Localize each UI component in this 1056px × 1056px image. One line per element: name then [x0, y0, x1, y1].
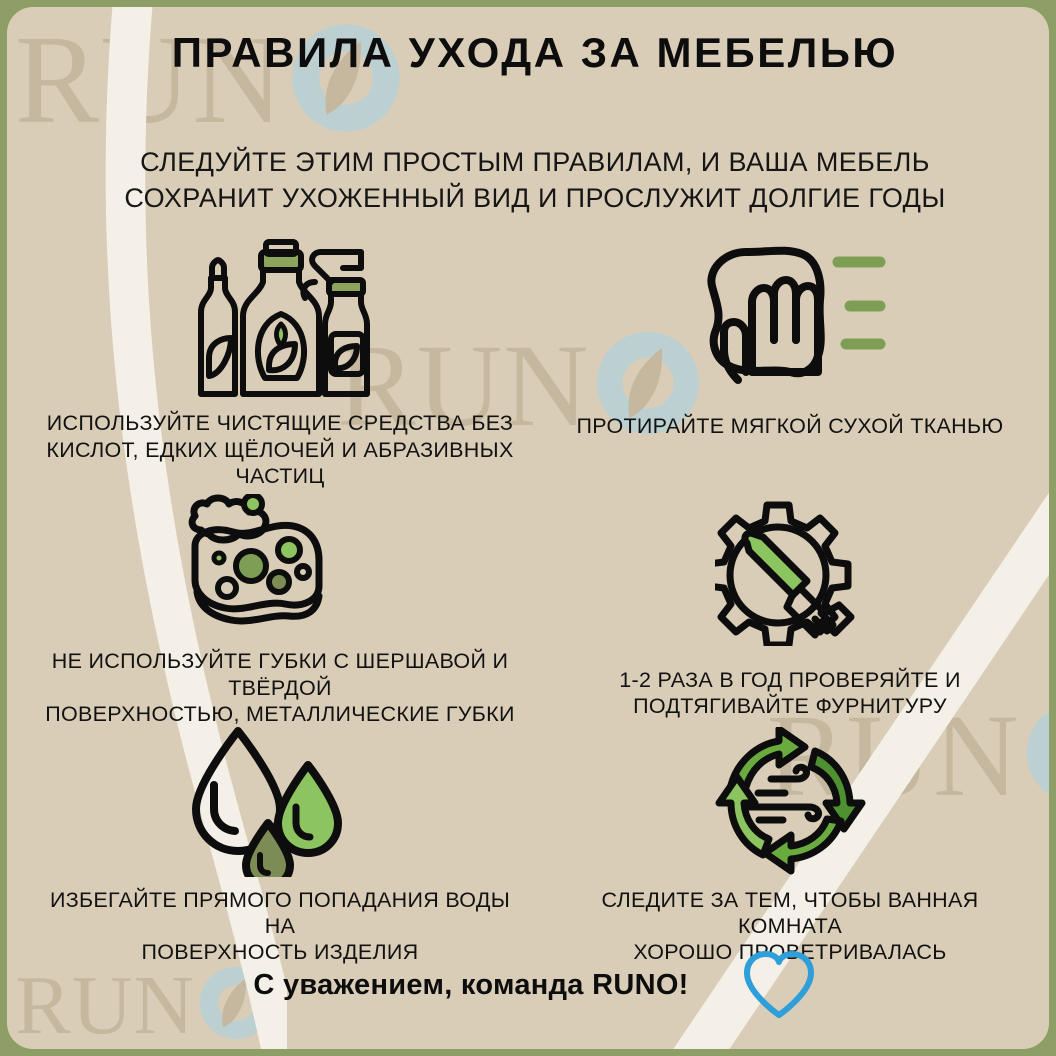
tip-tighten-fittings: 1-2 РАЗА В ГОД ПРОВЕРЯЙТЕ И ПОДТЯГИВАЙТЕ…: [535, 489, 1045, 727]
tip-icon-box: [190, 727, 370, 877]
sponge-icon: [185, 494, 375, 634]
tips-row: ИСПОЛЬЗУЙТЕ ЧИСТЯЩИЕ СРЕДСТВА БЕЗ КИСЛОТ…: [25, 235, 1045, 489]
tips-row: НЕ ИСПОЛЬЗУЙТЕ ГУБКИ С ШЕРШАВОЙ И ТВЁРДО…: [25, 489, 1045, 727]
tip-caption: ИСПОЛЬЗУЙТЕ ЧИСТЯЩИЕ СРЕДСТВА БЕЗ КИСЛОТ…: [46, 410, 513, 489]
caption-line: СЛЕДИТЕ ЗА ТЕМ, ЧТОБЫ ВАННАЯ КОМНАТА: [555, 887, 1025, 939]
bubble: [244, 495, 262, 513]
tip-caption: ПРОТИРАЙТЕ МЯГКОЙ СУХОЙ ТКАНЬЮ: [577, 413, 1004, 439]
hole: [218, 579, 236, 597]
screwdriver-shaft: [745, 533, 807, 595]
caption-line: ИЗБЕГАЙТЕ ПРЯМОГО ПОПАДАНИЯ ВОДЫ НА: [45, 887, 515, 939]
tip-cleaning-agents: ИСПОЛЬЗУЙТЕ ЧИСТЯЩИЕ СРЕДСТВА БЕЗ КИСЛОТ…: [25, 235, 535, 489]
footer-signature: С уважением, команда RUNO!: [253, 969, 688, 1002]
caption-line: НЕ ИСПОЛЬЗУЙТЕ ГУБКИ С ШЕРШАВОЙ И ТВЁРДО…: [45, 648, 515, 700]
heart-icon: [741, 949, 817, 1021]
water-drops-icon: [190, 727, 370, 877]
caption-line: 1-2 РАЗА В ГОД ПРОВЕРЯЙТЕ И: [619, 667, 960, 693]
tip-dry-cloth: ПРОТИРАЙТЕ МЯГКОЙ СУХОЙ ТКАНЬЮ: [535, 235, 1045, 489]
hole: [269, 572, 289, 592]
hole: [278, 539, 300, 561]
tips-grid: ИСПОЛЬЗУЙТЕ ЧИСТЯЩИЕ СРЕДСТВА БЕЗ КИСЛОТ…: [25, 235, 1045, 965]
motion-lines: [838, 262, 880, 344]
hole: [236, 551, 266, 581]
tip-icon-box: [165, 235, 395, 400]
tips-row: ИЗБЕГАЙТЕ ПРЯМОГО ПОПАДАНИЯ ВОДЫ НА ПОВЕ…: [25, 727, 1045, 965]
tip-icon-box: [715, 489, 865, 657]
hand-wiping-cloth-icon: [690, 244, 890, 394]
caption-line: ЧАСТИЦ: [46, 463, 513, 489]
tip-avoid-water: ИЗБЕГАЙТЕ ПРЯМОГО ПОПАДАНИЯ ВОДЫ НА ПОВЕ…: [25, 727, 535, 965]
air-circulation-icon: [713, 727, 868, 877]
caption-line: ПОВЕРХНОСТЬЮ, МЕТАЛЛИЧЕСКИЕ ГУБКИ: [45, 701, 515, 727]
tip-icon-box: [690, 235, 890, 403]
hole: [214, 553, 224, 563]
caption-line: КИСЛОТ, ЕДКИХ ЩЁЛОЧЕЙ И АБРАЗИВНЫХ: [46, 437, 513, 463]
poster-card: RUN RUN RUN: [7, 7, 1049, 1049]
page-subtitle: СЛЕДУЙТЕ ЭТИМ ПРОСТЫМ ПРАВИЛАМ, И ВАША М…: [7, 145, 1049, 216]
caption-line: ИСПОЛЬЗУЙТЕ ЧИСТЯЩИЕ СРЕДСТВА БЕЗ: [46, 410, 513, 436]
tip-icon-box: [713, 727, 868, 877]
tip-caption: 1-2 РАЗА В ГОД ПРОВЕРЯЙТЕ И ПОДТЯГИВАЙТЕ…: [619, 667, 960, 719]
wind-lines: [749, 767, 819, 820]
gear-screwdriver-icon: [715, 501, 865, 646]
page-title: ПРАВИЛА УХОДА ЗА МЕБЕЛЬЮ: [7, 29, 1049, 77]
caption-line: ПОДТЯГИВАЙТЕ ФУРНИТУРУ: [619, 693, 960, 719]
hole: [297, 566, 309, 578]
tip-icon-box: [185, 489, 375, 638]
tip-caption: НЕ ИСПОЛЬЗУЙТЕ ГУБКИ С ШЕРШАВОЙ И ТВЁРДО…: [45, 648, 515, 727]
cleaning-bottles-icon: [165, 238, 395, 398]
tip-ventilation: СЛЕДИТЕ ЗА ТЕМ, ЧТОБЫ ВАННАЯ КОМНАТА ХОР…: [535, 727, 1045, 965]
subtitle-line-2: СОХРАНИТ УХОЖЕННЫЙ ВИД И ПРОСЛУЖИТ ДОЛГИ…: [7, 181, 1049, 217]
caption-line: ПРОТИРАЙТЕ МЯГКОЙ СУХОЙ ТКАНЬЮ: [577, 413, 1004, 439]
tip-no-rough-sponges: НЕ ИСПОЛЬЗУЙТЕ ГУБКИ С ШЕРШАВОЙ И ТВЁРДО…: [25, 489, 535, 727]
poster-root: RUN RUN RUN: [0, 0, 1056, 1056]
subtitle-line-1: СЛЕДУЙТЕ ЭТИМ ПРОСТЫМ ПРАВИЛАМ, И ВАША М…: [7, 145, 1049, 181]
footer: С уважением, команда RUNO!: [7, 949, 1049, 1021]
